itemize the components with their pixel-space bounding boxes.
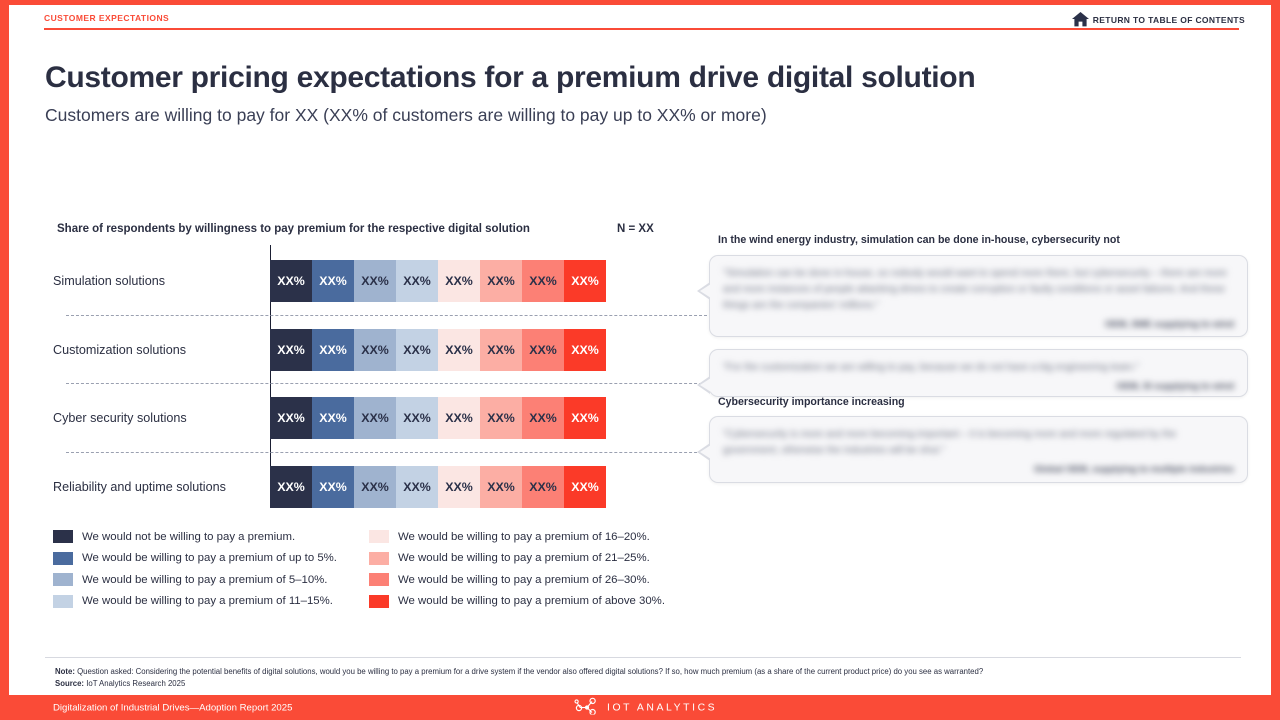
chart-row-bars: XX%XX%XX%XX%XX%XX%XX%XX%	[270, 329, 606, 371]
quote-attribution-1: OEM, SME supplying to wind	[710, 318, 1247, 338]
chart-segment[interactable]: XX%	[522, 397, 564, 439]
legend-item[interactable]: We would be willing to pay a premium of …	[53, 569, 337, 591]
legend-item[interactable]: We would be willing to pay a premium of …	[369, 569, 665, 591]
chart-segment[interactable]: XX%	[270, 397, 312, 439]
chart-segment[interactable]: XX%	[522, 466, 564, 508]
chart-segment[interactable]: XX%	[354, 397, 396, 439]
chart-row-label: Reliability and uptime solutions	[53, 466, 243, 508]
footer-logo: IOT ANALYTICS	[574, 696, 717, 719]
chart-segment[interactable]: XX%	[354, 466, 396, 508]
chart-row-bars: XX%XX%XX%XX%XX%XX%XX%XX%	[270, 397, 606, 439]
chart-segment[interactable]: XX%	[564, 397, 606, 439]
footer-report-title: Digitalization of Industrial Drives—Adop…	[53, 702, 292, 713]
chart-segment[interactable]: XX%	[396, 329, 438, 371]
quote-attribution-3: Global OEM, supplying to multiple indust…	[710, 463, 1247, 483]
chart-segment[interactable]: XX%	[522, 329, 564, 371]
chart-segment[interactable]: XX%	[270, 329, 312, 371]
legend-swatch	[369, 573, 389, 586]
legend-item[interactable]: We would not be willing to pay a premium…	[53, 526, 337, 548]
chart-segment[interactable]: XX%	[480, 329, 522, 371]
chart-segment[interactable]: XX%	[438, 397, 480, 439]
legend-label: We would be willing to pay a premium of …	[398, 552, 650, 564]
chart-row-bars: XX%XX%XX%XX%XX%XX%XX%XX%	[270, 260, 606, 302]
chart-row-label: Simulation solutions	[53, 260, 243, 302]
quote-body-2: "For the customization we are willing to…	[710, 350, 1247, 380]
chart-segment[interactable]: XX%	[312, 329, 354, 371]
chart-segment[interactable]: XX%	[396, 466, 438, 508]
legend-swatch	[53, 530, 73, 543]
chart-segment[interactable]: XX%	[396, 397, 438, 439]
legend-column-right: We would be willing to pay a premium of …	[369, 526, 665, 612]
legend-label: We would be willing to pay a premium of …	[398, 574, 650, 586]
chart-segment[interactable]: XX%	[522, 260, 564, 302]
footnote-source-line: Source: IoT Analytics Research 2025	[55, 678, 983, 690]
chart-row-bars: XX%XX%XX%XX%XX%XX%XX%XX%	[270, 466, 606, 508]
legend-label: We would be willing to pay a premium of …	[82, 595, 333, 607]
quote-bubble-2: "For the customization we are willing to…	[709, 349, 1248, 397]
footnote-block: Note: Question asked: Considering the po…	[55, 666, 983, 689]
chart-segment[interactable]: XX%	[438, 260, 480, 302]
chart-segment[interactable]: XX%	[480, 466, 522, 508]
chart-segment[interactable]: XX%	[312, 260, 354, 302]
chart-row-label: Customization solutions	[53, 329, 243, 371]
chart-row-divider	[66, 452, 712, 453]
quote-body-3: "Cybersecurity is more and more becoming…	[710, 417, 1247, 463]
chart-segment[interactable]: XX%	[312, 466, 354, 508]
legend-swatch	[369, 595, 389, 608]
chart-segment[interactable]: XX%	[354, 260, 396, 302]
legend-item[interactable]: We would be willing to pay a premium of …	[369, 548, 665, 570]
quote-bubble-3: "Cybersecurity is more and more becoming…	[709, 416, 1248, 483]
chart-segment[interactable]: XX%	[312, 397, 354, 439]
footer-brand-name: IOT ANALYTICS	[607, 702, 717, 713]
footnote-rule	[45, 657, 1241, 658]
slide-canvas: CUSTOMER EXPECTATIONS RETURN TO TABLE OF…	[0, 0, 1280, 720]
quote-heading-1: In the wind energy industry, simulation …	[718, 234, 1120, 246]
chart-segment[interactable]: XX%	[270, 466, 312, 508]
quote-body-1: "Simulation can be done in-house, so nob…	[710, 256, 1247, 318]
legend-item[interactable]: We would be willing to pay a premium of …	[53, 548, 337, 570]
chart-segment[interactable]: XX%	[480, 397, 522, 439]
footnote-source-label: Source:	[55, 679, 84, 688]
quote-heading-2: Cybersecurity importance increasing	[718, 396, 905, 408]
legend-label: We would be willing to pay a premium of …	[398, 531, 650, 543]
legend-label: We would be willing to pay a premium of …	[82, 552, 337, 564]
legend-swatch	[53, 595, 73, 608]
legend-item[interactable]: We would be willing to pay a premium of …	[369, 591, 665, 613]
footer-bar: Digitalization of Industrial Drives—Adop…	[9, 695, 1271, 720]
quote-bubble-1: "Simulation can be done in-house, so nob…	[709, 255, 1248, 337]
legend-swatch	[369, 552, 389, 565]
legend-item[interactable]: We would be willing to pay a premium of …	[53, 591, 337, 613]
chart-segment[interactable]: XX%	[270, 260, 312, 302]
chart-segment[interactable]: XX%	[564, 260, 606, 302]
chart-segment[interactable]: XX%	[354, 329, 396, 371]
legend-column-left: We would not be willing to pay a premium…	[53, 526, 337, 612]
legend-item[interactable]: We would be willing to pay a premium of …	[369, 526, 665, 548]
chart-segment[interactable]: XX%	[438, 329, 480, 371]
chart-segment[interactable]: XX%	[438, 466, 480, 508]
chart-row-divider	[66, 383, 712, 384]
iot-analytics-network-logo-icon	[574, 696, 600, 719]
chart-segment[interactable]: XX%	[564, 329, 606, 371]
legend-label: We would be willing to pay a premium of …	[82, 574, 327, 586]
footnote-note-line: Note: Question asked: Considering the po…	[55, 666, 983, 678]
legend-swatch	[53, 573, 73, 586]
chart-segment[interactable]: XX%	[480, 260, 522, 302]
legend-swatch	[369, 530, 389, 543]
chart-segment[interactable]: XX%	[396, 260, 438, 302]
legend-label: We would be willing to pay a premium of …	[398, 595, 665, 607]
chart-row-divider	[66, 315, 712, 316]
chart-segment[interactable]: XX%	[564, 466, 606, 508]
footnote-note-text: Question asked: Considering the potentia…	[75, 667, 983, 676]
legend-label: We would not be willing to pay a premium…	[82, 531, 295, 543]
chart-row-label: Cyber security solutions	[53, 397, 243, 439]
legend-swatch	[53, 552, 73, 565]
footnote-note-label: Note:	[55, 667, 75, 676]
footnote-source-text: IoT Analytics Research 2025	[84, 679, 185, 688]
